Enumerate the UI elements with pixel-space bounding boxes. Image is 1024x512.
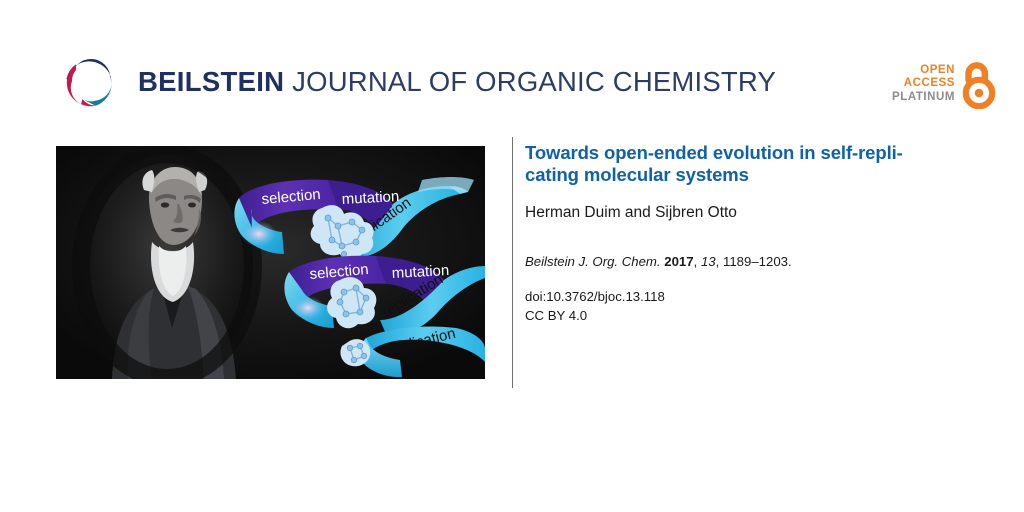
- open-access-badge[interactable]: OPEN ACCESS PLATINUM: [892, 58, 998, 110]
- charles-darwin-portrait: [81, 154, 253, 379]
- open-padlock-icon: [960, 59, 998, 109]
- graphical-abstract-image[interactable]: selection mutation replication: [56, 146, 485, 379]
- journal-wordmark: BEILSTEIN JOURNAL OF ORGANIC CHEMISTRY: [138, 68, 776, 98]
- article-metadata: Towards open-ended evolution in self-rep…: [525, 142, 995, 325]
- wordmark-subtitle: JOURNAL OF ORGANIC CHEMISTRY: [284, 66, 776, 97]
- citation-year: 2017: [664, 254, 693, 269]
- beilstein-ring-logo-icon: [56, 50, 122, 116]
- citation-journal: Beilstein J. Org. Chem.: [525, 254, 661, 269]
- graphical-abstract-artwork: selection mutation replication: [56, 146, 485, 379]
- citation-comma-1: ,: [694, 254, 698, 269]
- article-license[interactable]: CC BY 4.0: [525, 306, 995, 325]
- masthead: BEILSTEIN JOURNAL OF ORGANIC CHEMISTRY O…: [0, 0, 1024, 130]
- open-access-line-access: ACCESS: [892, 77, 955, 90]
- article-authors: Herman Duim and Sijbren Otto: [525, 204, 995, 223]
- article-title[interactable]: Towards open-ended evolution in self-rep…: [525, 142, 970, 185]
- article-title-line-1: Towards open-ended evolution in self-rep…: [525, 142, 903, 163]
- journal-logo[interactable]: BEILSTEIN JOURNAL OF ORGANIC CHEMISTRY: [56, 50, 776, 116]
- article-title-line-2: cating molecular systems: [525, 164, 749, 185]
- citation-volume: 13: [701, 254, 716, 269]
- wordmark-beilstein: BEILSTEIN: [138, 66, 284, 97]
- article-doi[interactable]: doi:10.3762/bjoc.13.118: [525, 287, 995, 306]
- column-divider: [512, 137, 513, 388]
- open-access-line-platinum: PLATINUM: [892, 91, 955, 104]
- citation-pages: 1189–1203.: [723, 254, 792, 269]
- open-access-line-open: OPEN: [892, 64, 955, 77]
- open-access-text: OPEN ACCESS PLATINUM: [892, 64, 955, 104]
- citation-comma-2: ,: [716, 254, 720, 269]
- article-citation: Beilstein J. Org. Chem. 2017, 13, 1189–1…: [525, 253, 995, 271]
